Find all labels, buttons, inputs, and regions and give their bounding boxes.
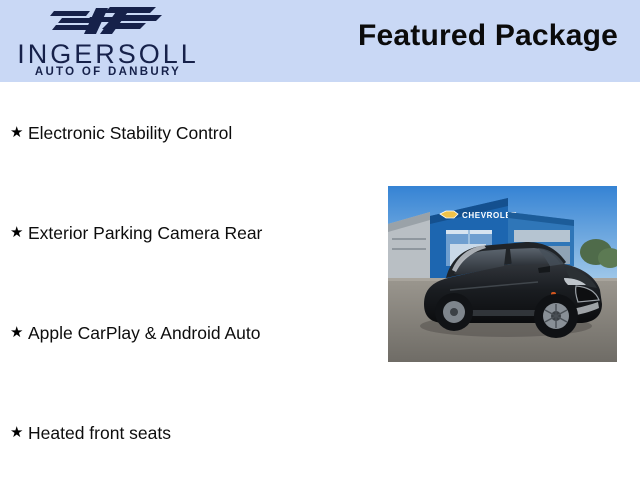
star-bullet-icon: ★ bbox=[10, 420, 28, 446]
page-header: INGERSOLL AUTO OF DANBURY Featured Packa… bbox=[0, 0, 640, 82]
feature-label: Apple CarPlay & Android Auto bbox=[28, 320, 261, 346]
dealer-logo: INGERSOLL AUTO OF DANBURY bbox=[8, 1, 208, 81]
feature-label: Heated front seats bbox=[28, 420, 171, 446]
page-title: Featured Package bbox=[358, 19, 618, 53]
dealer-wordmark: INGERSOLL bbox=[8, 39, 208, 69]
star-bullet-icon: ★ bbox=[10, 220, 28, 246]
dealer-tagline: AUTO OF DANBURY bbox=[8, 66, 208, 79]
star-bullet-icon: ★ bbox=[10, 320, 28, 346]
feature-list: ★ Electronic Stability Control ★ Exterio… bbox=[0, 82, 380, 480]
ingersoll-wing-emblem bbox=[46, 3, 166, 39]
list-item: ★ Apple CarPlay & Android Auto bbox=[10, 320, 261, 346]
list-item: ★ Exterior Parking Camera Rear bbox=[10, 220, 262, 246]
list-item: ★ Electronic Stability Control bbox=[10, 120, 232, 146]
vehicle-photo: CHEVROLET bbox=[388, 186, 617, 362]
feature-label: Exterior Parking Camera Rear bbox=[28, 220, 262, 246]
feature-label: Electronic Stability Control bbox=[28, 120, 232, 146]
list-item: ★ Heated front seats bbox=[10, 420, 171, 446]
star-bullet-icon: ★ bbox=[10, 120, 28, 146]
